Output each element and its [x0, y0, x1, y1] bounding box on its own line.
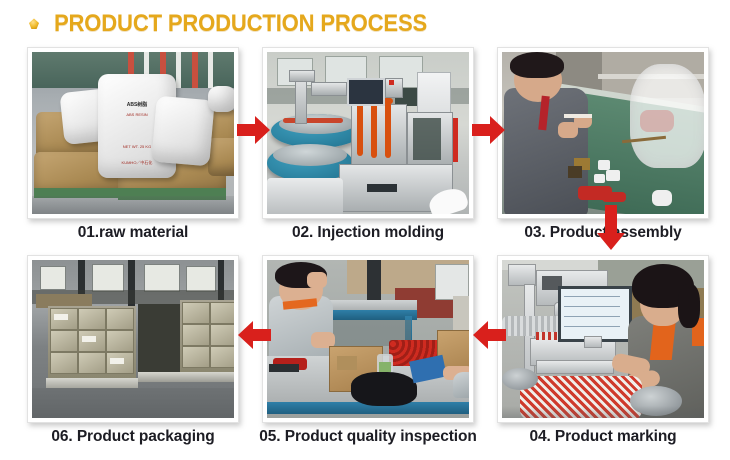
step-caption-01: 01.raw material — [27, 224, 239, 242]
step-caption-05: 05. Product quality inspection — [256, 428, 480, 446]
arrow-right-step2-step3 — [472, 113, 506, 147]
photo-product-assembly — [502, 52, 704, 214]
arrow-down-step3-step4 — [594, 205, 628, 251]
photo-frame-02 — [262, 47, 474, 219]
photo-quality-inspection — [267, 260, 469, 418]
photo-injection-molding — [267, 52, 469, 214]
photo-product-marking — [502, 260, 704, 418]
step-caption-04: 04. Product marking — [497, 428, 709, 446]
step-caption-06: 06. Product packaging — [27, 428, 239, 446]
photo-raw-material: ABS树脂 ABS RESIN NET WT. 25 KG KUMHO／中石化 — [32, 52, 234, 214]
diamond-bullet-icon — [27, 17, 41, 31]
step-caption-02: 02. Injection molding — [262, 224, 474, 242]
photo-frame-01: ABS树脂 ABS RESIN NET WT. 25 KG KUMHO／中石化 — [27, 47, 239, 219]
page-header: PRODUCT PRODUCTION PROCESS — [0, 8, 730, 40]
photo-product-packaging — [32, 260, 234, 418]
arrow-right-step1-step2 — [237, 113, 271, 147]
photo-frame-06 — [27, 255, 239, 423]
photo-frame-04 — [497, 255, 709, 423]
product-process-infographic: PRODUCT PRODUCTION PROCESS — [0, 0, 730, 460]
photo-frame-03 — [497, 47, 709, 219]
photo-frame-05 — [262, 255, 474, 423]
arrow-left-step4-step5 — [472, 318, 506, 352]
page-title: PRODUCT PRODUCTION PROCESS — [54, 10, 427, 38]
arrow-left-step5-step6 — [237, 318, 271, 352]
